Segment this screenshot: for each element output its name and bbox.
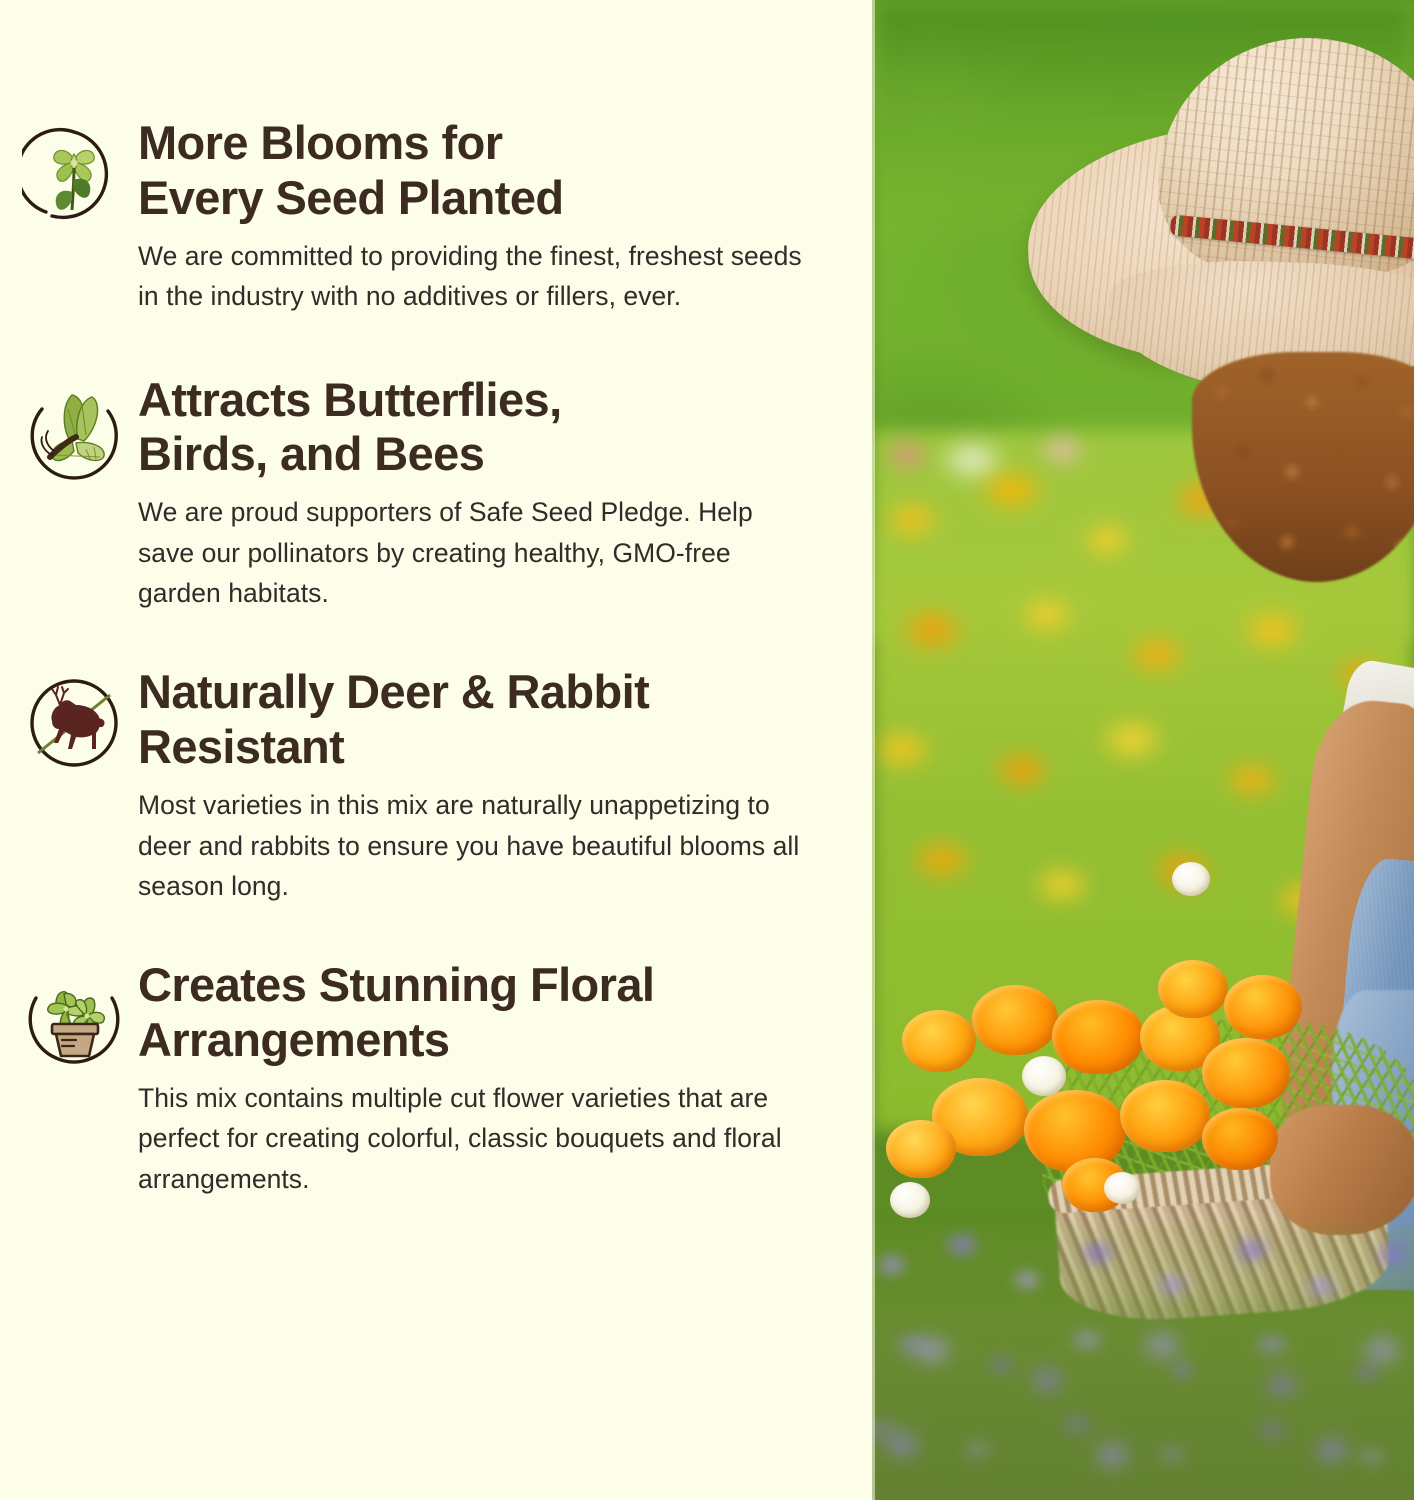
product-feature-panel: More Blooms for Every Seed Planted We ar… <box>0 0 1414 1500</box>
feature-text-block: Naturally Deer & Rabbit Resistant Most v… <box>138 665 844 906</box>
photo-hand <box>1270 1105 1414 1235</box>
photo-poppy-bloom <box>1120 1080 1210 1152</box>
butterfly-in-circle-icon <box>10 373 138 483</box>
feature-item-floral-arrangements: Creates Stunning Floral Arrangements Thi… <box>0 958 872 1199</box>
feature-text-block: Attracts Butterflies, Birds, and Bees We… <box>138 373 844 614</box>
feature-text-block: Creates Stunning Floral Arrangements Thi… <box>138 958 844 1199</box>
photo-poppy-bloom <box>902 1010 976 1072</box>
feature-description: We are committed to providing the finest… <box>138 236 808 317</box>
photo-white-bloom <box>1104 1172 1140 1204</box>
photo-left-edge <box>872 0 875 1500</box>
photo-poppy-bloom <box>972 985 1058 1055</box>
photo-poppy-bloom <box>886 1120 956 1178</box>
photo-poppy-bloom <box>1202 1038 1290 1108</box>
photo-poppy-bloom <box>1052 1000 1144 1074</box>
feature-title: Naturally Deer & Rabbit Resistant <box>138 665 808 775</box>
lifestyle-photo <box>872 0 1414 1500</box>
feature-title: Creates Stunning Floral Arrangements <box>138 958 808 1068</box>
photo-white-bloom <box>890 1182 930 1218</box>
feature-description: We are proud supporters of Safe Seed Ple… <box>138 492 808 613</box>
photo-purple-wildflowers-front <box>872 1300 1414 1500</box>
photo-poppy-bloom <box>1158 960 1228 1018</box>
photo-poppy-bloom <box>1024 1090 1126 1172</box>
photo-white-bloom <box>1022 1056 1066 1096</box>
feature-title: Attracts Butterflies, Birds, and Bees <box>138 373 808 483</box>
flower-in-circle-icon <box>10 116 138 226</box>
no-deer-in-circle-icon <box>10 665 138 775</box>
feature-item-attracts-pollinators: Attracts Butterflies, Birds, and Bees We… <box>0 373 872 614</box>
feature-item-more-blooms: More Blooms for Every Seed Planted We ar… <box>0 116 872 317</box>
photo-poppy-bloom <box>1224 975 1302 1039</box>
features-column: More Blooms for Every Seed Planted We ar… <box>0 0 872 1500</box>
feature-description: This mix contains multiple cut flower va… <box>138 1078 808 1199</box>
photo-white-bloom <box>1172 862 1210 896</box>
feature-description: Most varieties in this mix are naturally… <box>138 785 808 906</box>
feature-title: More Blooms for Every Seed Planted <box>138 116 808 226</box>
potted-plant-in-circle-icon <box>10 958 138 1068</box>
photo-poppy-bloom <box>1202 1108 1278 1170</box>
feature-item-deer-rabbit-resistant: Naturally Deer & Rabbit Resistant Most v… <box>0 665 872 906</box>
feature-text-block: More Blooms for Every Seed Planted We ar… <box>138 116 844 317</box>
